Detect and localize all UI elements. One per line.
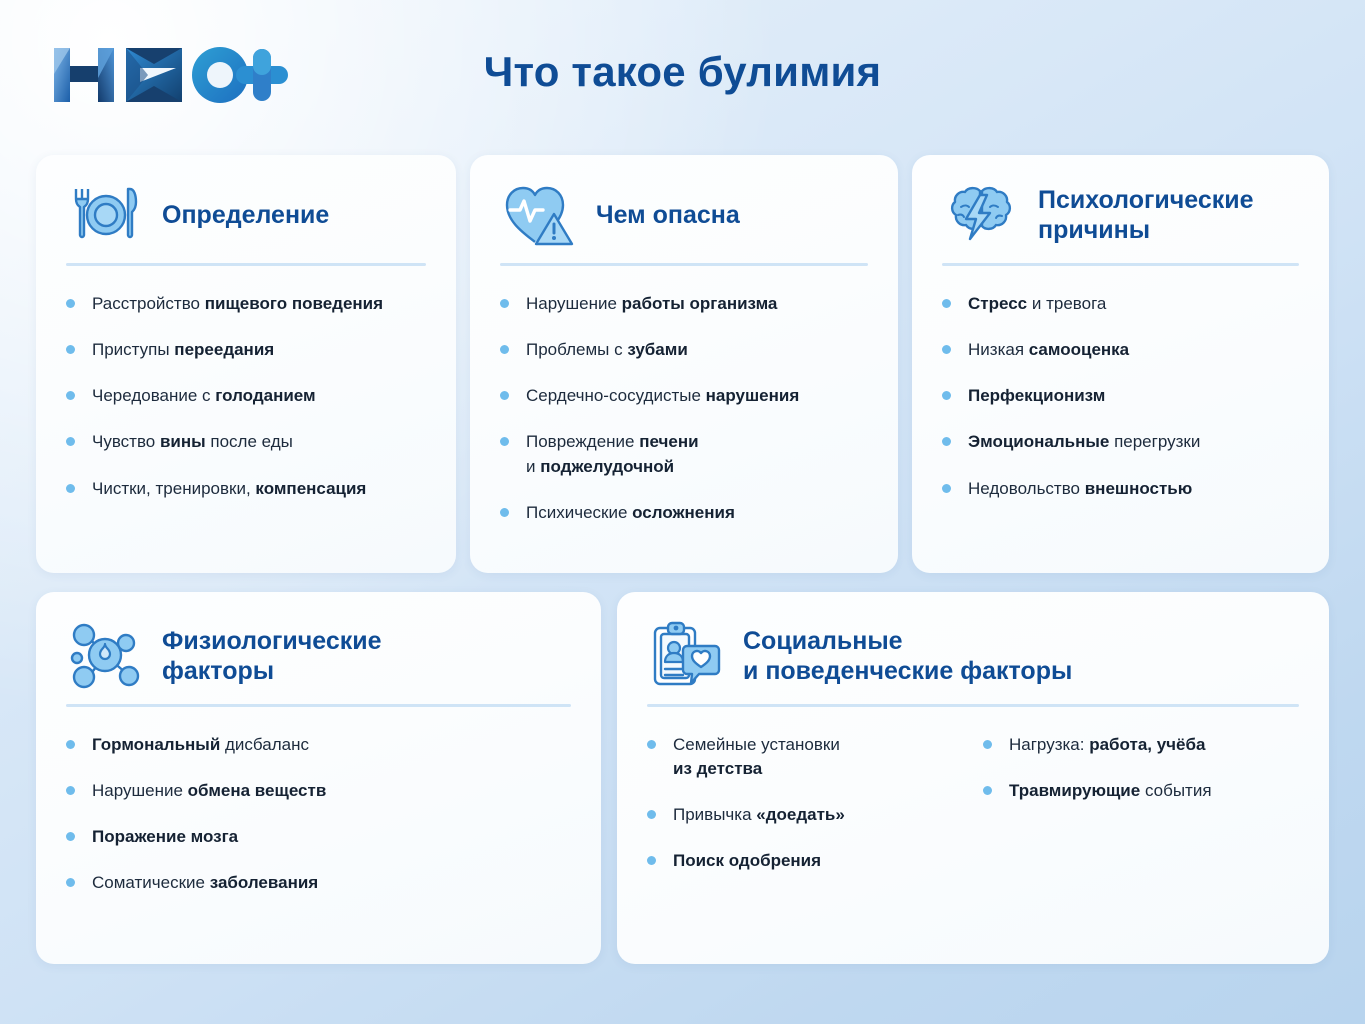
- bullet-dot-icon: [500, 508, 509, 517]
- bullet-dot-icon: [66, 345, 75, 354]
- list-item: Поражение мозга: [66, 825, 571, 849]
- plate-fork-knife-icon: [66, 176, 144, 254]
- bullet-list: Стресс и тревогаНизкая самооценкаПерфекц…: [912, 266, 1329, 501]
- bullet-dot-icon: [942, 391, 951, 400]
- bullet-dot-icon: [500, 345, 509, 354]
- list-item-text: Приступы переедания: [92, 340, 274, 359]
- bullet-dot-icon: [942, 345, 951, 354]
- list-item: Эмоциональные перегрузки: [942, 430, 1299, 454]
- card-header: Социальныеи поведенческие факторы: [617, 592, 1329, 696]
- list-item-text: Нарушение обмена веществ: [92, 781, 326, 800]
- list-item: Чистки, тренировки, компенсация: [66, 477, 426, 501]
- list-item: Нарушение обмена веществ: [66, 779, 571, 803]
- list-item-text: Семейные установкииз детства: [673, 735, 840, 778]
- list-item-text: Стресс и тревога: [968, 294, 1106, 313]
- bullet-list: Расстройство пищевого поведенияПриступы …: [36, 266, 456, 501]
- bullet-dot-icon: [66, 484, 75, 493]
- bullet-dot-icon: [500, 299, 509, 308]
- bullet-dot-icon: [500, 437, 509, 446]
- list-item: Травмирующие события: [983, 779, 1299, 803]
- list-item-text: Чувство вины после еды: [92, 432, 293, 451]
- list-item: Нагрузка: работа, учёба: [983, 733, 1299, 757]
- two-column-bullets: Семейные установкииз детстваПривычка «до…: [617, 707, 1329, 874]
- list-item: Нарушение работы организма: [500, 292, 868, 316]
- bullet-dot-icon: [983, 786, 992, 795]
- bullet-dot-icon: [647, 856, 656, 865]
- bullet-dot-icon: [66, 391, 75, 400]
- card-psychological-causes: Психологическиепричины Стресс и тревогаН…: [912, 155, 1329, 573]
- list-item-text: Повреждение печении поджелудочной: [526, 432, 699, 475]
- card-social-behavioral-factors: Социальныеи поведенческие факторы Семейн…: [617, 592, 1329, 964]
- list-item-text: Чередование с голоданием: [92, 386, 316, 405]
- page-title: Что такое булимия: [0, 48, 1365, 96]
- bullet-dot-icon: [942, 437, 951, 446]
- card-title: Психологическиепричины: [1038, 185, 1254, 245]
- bullet-list: Гормональный дисбалансНарушение обмена в…: [36, 707, 601, 896]
- list-item: Соматические заболевания: [66, 871, 571, 895]
- list-item: Низкая самооценка: [942, 338, 1299, 362]
- bullet-dot-icon: [942, 484, 951, 493]
- list-item: Недовольство внешностью: [942, 477, 1299, 501]
- list-item-text: Нагрузка: работа, учёба: [1009, 735, 1205, 754]
- list-item: Поиск одобрения: [647, 849, 963, 873]
- list-item: Привычка «доедать»: [647, 803, 963, 827]
- list-item-text: Поиск одобрения: [673, 851, 821, 870]
- card-danger: Чем опасна Нарушение работы организмаПро…: [470, 155, 898, 573]
- card-header: Определение: [36, 155, 456, 249]
- card-header: Физиологическиефакторы: [36, 592, 601, 696]
- list-item: Семейные установкииз детства: [647, 733, 963, 781]
- bullet-dot-icon: [500, 391, 509, 400]
- infographic-page: Что такое булимия Определение Расстройст…: [0, 0, 1365, 1024]
- bullet-dot-icon: [66, 437, 75, 446]
- list-item: Приступы переедания: [66, 338, 426, 362]
- list-item: Чувство вины после еды: [66, 430, 426, 454]
- list-item: Проблемы с зубами: [500, 338, 868, 362]
- list-item-text: Расстройство пищевого поведения: [92, 294, 383, 313]
- list-item-text: Психические осложнения: [526, 503, 735, 522]
- list-item: Повреждение печении поджелудочной: [500, 430, 868, 478]
- bullet-dot-icon: [942, 299, 951, 308]
- card-title: Физиологическиефакторы: [162, 626, 382, 686]
- card-title: Определение: [162, 200, 329, 230]
- bullet-list: Нарушение работы организмаПроблемы с зуб…: [470, 266, 898, 525]
- card-header: Психологическиепричины: [912, 155, 1329, 249]
- list-item: Сердечно-сосудистые нарушения: [500, 384, 868, 408]
- brain-lightning-icon: [942, 176, 1020, 254]
- list-item-text: Перфекционизм: [968, 386, 1105, 405]
- heart-pulse-warning-icon: [500, 176, 578, 254]
- list-item-text: Эмоциональные перегрузки: [968, 432, 1200, 451]
- bullet-dot-icon: [647, 740, 656, 749]
- bullet-dot-icon: [66, 832, 75, 841]
- list-item-text: Чистки, тренировки, компенсация: [92, 479, 366, 498]
- bullet-list-right: Нагрузка: работа, учёбаТравмирующие собы…: [983, 733, 1299, 874]
- bullet-dot-icon: [983, 740, 992, 749]
- list-item: Расстройство пищевого поведения: [66, 292, 426, 316]
- card-title: Чем опасна: [596, 200, 740, 230]
- bullet-dot-icon: [66, 878, 75, 887]
- card-header: Чем опасна: [470, 155, 898, 249]
- list-item: Стресс и тревога: [942, 292, 1299, 316]
- list-item-text: Низкая самооценка: [968, 340, 1129, 359]
- bullet-dot-icon: [66, 740, 75, 749]
- page-header: Что такое булимия: [0, 0, 1365, 150]
- list-item: Психические осложнения: [500, 501, 868, 525]
- list-item: Перфекционизм: [942, 384, 1299, 408]
- list-item-text: Поражение мозга: [92, 827, 238, 846]
- list-item-text: Недовольство внешностью: [968, 479, 1192, 498]
- list-item-text: Проблемы с зубами: [526, 340, 688, 359]
- list-item-text: Гормональный дисбаланс: [92, 735, 309, 754]
- card-title: Социальныеи поведенческие факторы: [743, 626, 1072, 686]
- molecule-hormone-icon: [66, 617, 144, 695]
- bullet-dot-icon: [66, 299, 75, 308]
- list-item-text: Соматические заболевания: [92, 873, 318, 892]
- list-item-text: Травмирующие события: [1009, 781, 1212, 800]
- bullet-list-left: Семейные установкииз детстваПривычка «до…: [647, 733, 963, 874]
- list-item-text: Нарушение работы организма: [526, 294, 777, 313]
- card-definition: Определение Расстройство пищевого поведе…: [36, 155, 456, 573]
- list-item: Чередование с голоданием: [66, 384, 426, 408]
- card-physiological-factors: Физиологическиефакторы Гормональный дисб…: [36, 592, 601, 964]
- bullet-dot-icon: [647, 810, 656, 819]
- list-item-text: Привычка «доедать»: [673, 805, 845, 824]
- clipboard-person-heart-icon: [647, 617, 725, 695]
- list-item-text: Сердечно-сосудистые нарушения: [526, 386, 799, 405]
- list-item: Гормональный дисбаланс: [66, 733, 571, 757]
- bullet-dot-icon: [66, 786, 75, 795]
